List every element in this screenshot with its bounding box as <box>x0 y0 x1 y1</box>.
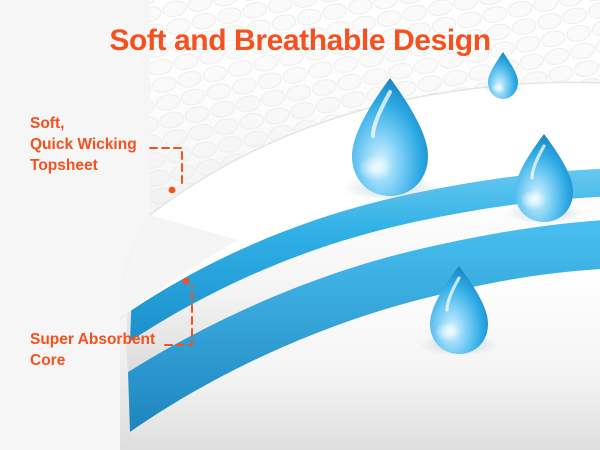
callout-label-core: Super Absorbent Core <box>30 329 155 371</box>
infographic-canvas: Soft and Breathable Design Soft, Quick W… <box>0 0 600 450</box>
callout-label-topsheet: Soft, Quick Wicking Topsheet <box>30 113 137 176</box>
illustration <box>0 0 600 450</box>
page-title: Soft and Breathable Design <box>0 24 600 58</box>
